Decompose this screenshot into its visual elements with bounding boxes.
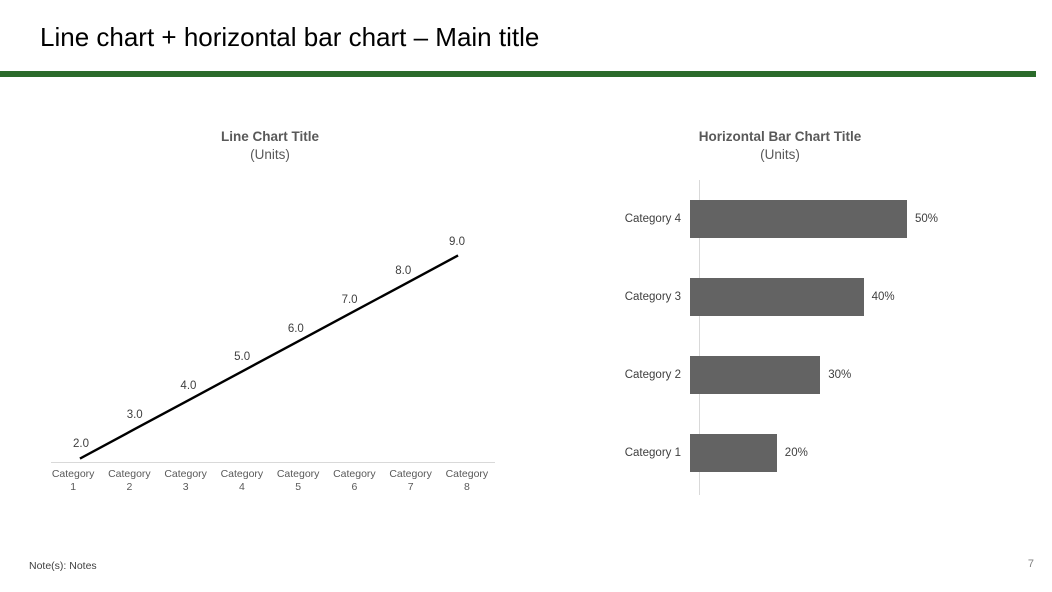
line-x-tick-label: Category6 xyxy=(326,468,382,494)
bar-fill xyxy=(690,278,864,316)
line-x-tick-label-line2: 8 xyxy=(439,481,495,494)
line-series-path xyxy=(45,178,495,498)
line-x-tick-label-line1: Category xyxy=(45,468,101,481)
bar-chart-row: Category 340% xyxy=(560,258,1000,336)
line-point-label: 3.0 xyxy=(127,409,143,421)
line-x-tick-label-line2: 7 xyxy=(383,481,439,494)
bar-chart-subtitle: (Units) xyxy=(560,146,1000,164)
line-x-tick-label-line1: Category xyxy=(383,468,439,481)
line-point-label: 2.0 xyxy=(73,438,89,450)
line-x-tick-label-line2: 5 xyxy=(270,481,326,494)
title-divider-rule xyxy=(0,71,1036,77)
line-point-label: 9.0 xyxy=(449,236,465,248)
line-x-tick-label-line1: Category xyxy=(270,468,326,481)
line-x-tick-label: Category8 xyxy=(439,468,495,494)
line-x-tick-label-line2: 6 xyxy=(326,481,382,494)
line-x-tick-label: Category2 xyxy=(101,468,157,494)
line-point-label: 6.0 xyxy=(288,323,304,335)
line-chart-x-axis xyxy=(51,462,495,463)
bar-category-label: Category 3 xyxy=(560,291,690,303)
line-x-tick-label-line1: Category xyxy=(158,468,214,481)
bar-chart-row: Category 120% xyxy=(560,414,1000,492)
line-chart-x-tick-labels: Category1Category2Category3Category4Cate… xyxy=(45,468,495,494)
bar-chart-row: Category 450% xyxy=(560,180,1000,258)
line-chart-plot-area: 2.03.04.05.06.07.08.09.0 xyxy=(45,178,495,498)
bar-chart-panel: Horizontal Bar Chart Title (Units) Categ… xyxy=(560,128,1000,508)
line-x-tick-label-line2: 1 xyxy=(45,481,101,494)
bar-category-label: Category 1 xyxy=(560,447,690,459)
bar-category-label: Category 2 xyxy=(560,369,690,381)
footer-page-number: 7 xyxy=(1028,558,1034,570)
line-x-tick-label-line1: Category xyxy=(214,468,270,481)
line-x-tick-label: Category5 xyxy=(270,468,326,494)
line-x-tick-label: Category3 xyxy=(158,468,214,494)
line-chart-subtitle: (Units) xyxy=(45,146,495,164)
footer-notes: Note(s): Notes xyxy=(29,560,97,572)
line-x-tick-label-line1: Category xyxy=(439,468,495,481)
bar-value-label: 50% xyxy=(907,213,938,225)
page-title: Line chart + horizontal bar chart – Main… xyxy=(40,20,539,54)
line-x-tick-label: Category4 xyxy=(214,468,270,494)
line-x-tick-label-line2: 4 xyxy=(214,481,270,494)
line-x-tick-label-line1: Category xyxy=(101,468,157,481)
bar-value-label: 20% xyxy=(777,447,808,459)
line-chart-title: Line Chart Title xyxy=(45,128,495,146)
line-point-label: 8.0 xyxy=(395,265,411,277)
bar-chart-row: Category 230% xyxy=(560,336,1000,414)
bar-fill xyxy=(690,200,907,238)
bar-value-label: 30% xyxy=(820,369,851,381)
line-x-tick-label-line1: Category xyxy=(326,468,382,481)
bar-chart-title: Horizontal Bar Chart Title xyxy=(560,128,1000,146)
line-x-tick-label: Category7 xyxy=(383,468,439,494)
bar-category-label: Category 4 xyxy=(560,213,690,225)
bar-value-label: 40% xyxy=(864,291,895,303)
bar-chart-plot-area: Category 450%Category 340%Category 230%C… xyxy=(560,178,1000,498)
bar-fill xyxy=(690,434,777,472)
line-x-tick-label-line2: 3 xyxy=(158,481,214,494)
line-point-label: 7.0 xyxy=(342,294,358,306)
line-chart-panel: Line Chart Title (Units) 2.03.04.05.06.0… xyxy=(45,128,495,508)
line-x-tick-label: Category1 xyxy=(45,468,101,494)
line-x-tick-label-line2: 2 xyxy=(101,481,157,494)
bar-fill xyxy=(690,356,820,394)
line-point-label: 4.0 xyxy=(180,380,196,392)
line-point-label: 5.0 xyxy=(234,351,250,363)
